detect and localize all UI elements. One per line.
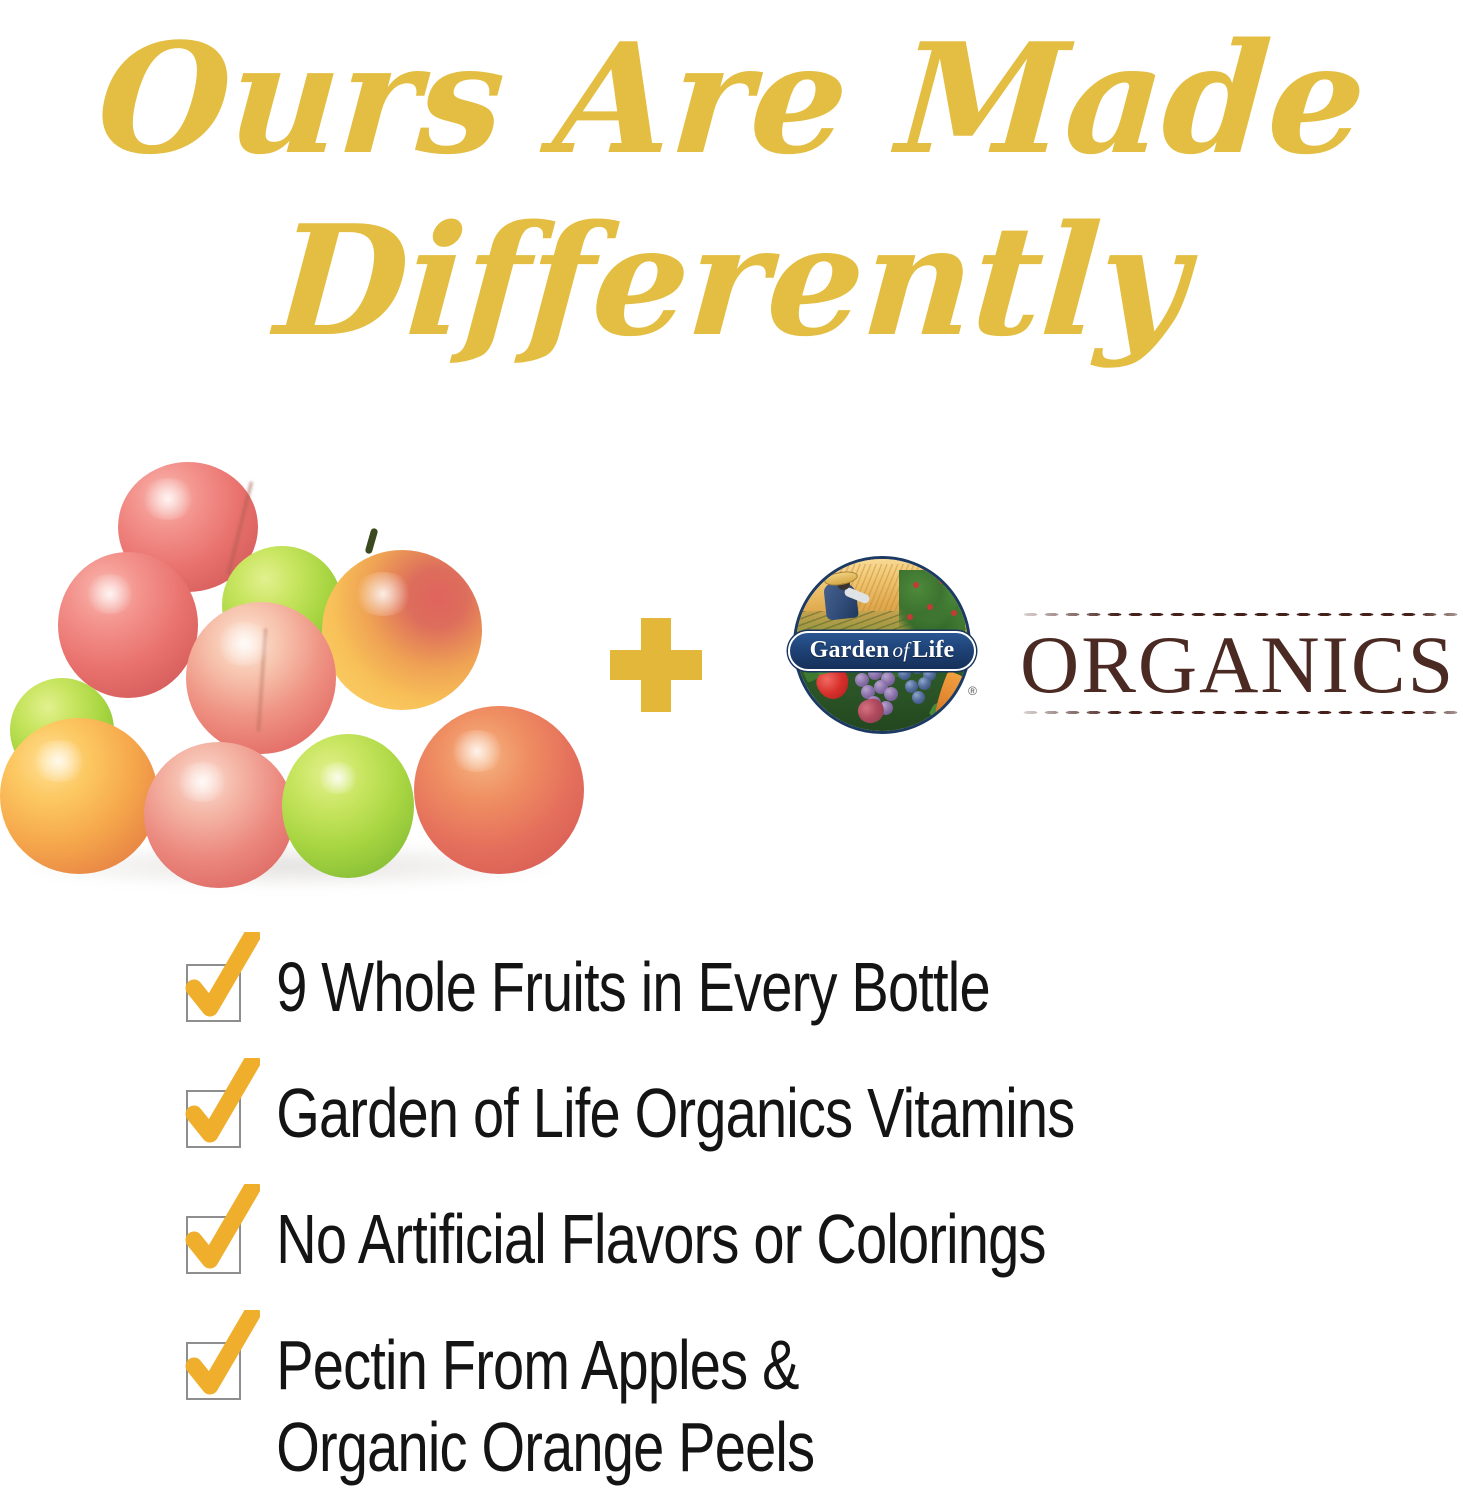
checklist-label-line-2: Organic Orange Peels bbox=[276, 1406, 1205, 1488]
apricot-front-left bbox=[0, 718, 158, 874]
peach-front-far-right bbox=[414, 706, 584, 874]
checklist-label-line-1: Pectin From Apples & bbox=[276, 1324, 1205, 1406]
brand-word-of: of bbox=[890, 638, 913, 662]
apple-front-right bbox=[282, 734, 414, 878]
checkbox-fruits[interactable] bbox=[186, 964, 241, 1022]
checklist-label: No Artificial Flavors or Colorings bbox=[241, 1198, 1205, 1280]
brand-word-life: Life bbox=[912, 637, 954, 663]
checkbox-no-artificial[interactable] bbox=[186, 1216, 241, 1274]
dotted-rule-bottom bbox=[1020, 710, 1463, 715]
strawberry-icon bbox=[813, 665, 852, 703]
emblem-brand-banner: GardenofLife bbox=[788, 631, 976, 671]
plus-bar-vertical bbox=[641, 618, 671, 712]
garden-of-life-emblem-icon: GardenofLife ® bbox=[793, 556, 971, 734]
checklist-label: Garden of Life Organics Vitamins bbox=[241, 1072, 1205, 1154]
peach-center bbox=[186, 602, 336, 754]
plus-icon bbox=[610, 618, 702, 712]
headline-line-1: Ours Are Made bbox=[0, 14, 1463, 184]
berry-bush-icon bbox=[899, 570, 965, 632]
peach-front-center bbox=[144, 742, 294, 888]
checkbox-vitamins[interactable] bbox=[186, 1090, 241, 1148]
organics-text: ORGANICS bbox=[1020, 624, 1463, 706]
checklist-item: 9 Whole Fruits in Every Bottle bbox=[186, 946, 1446, 1042]
checklist-label: 9 Whole Fruits in Every Bottle bbox=[241, 946, 1205, 1028]
checklist-item: Pectin From Apples & Organic Orange Peel… bbox=[186, 1324, 1446, 1500]
checklist-item: No Artificial Flavors or Colorings bbox=[186, 1198, 1446, 1294]
organics-wordmark: ORGANICS bbox=[1020, 600, 1463, 726]
feature-checklist: 9 Whole Fruits in Every Bottle Garden of… bbox=[186, 946, 1446, 1500]
brand-word-garden: Garden bbox=[810, 637, 890, 663]
checklist-label: Pectin From Apples & Organic Orange Peel… bbox=[241, 1324, 1205, 1488]
apple-stem bbox=[365, 528, 379, 555]
checkbox-pectin[interactable] bbox=[186, 1342, 241, 1400]
fruit-pile-image bbox=[0, 452, 600, 892]
peach-left-upper bbox=[58, 552, 198, 698]
headline-line-2: Differently bbox=[0, 196, 1463, 366]
dotted-rule-top bbox=[1020, 612, 1463, 617]
checklist-item: Garden of Life Organics Vitamins bbox=[186, 1072, 1446, 1168]
registered-trademark-icon: ® bbox=[968, 684, 977, 698]
product-infographic: Ours Are Made Differently bbox=[0, 0, 1463, 1500]
emblem-brand-text: GardenofLife bbox=[810, 637, 955, 664]
peach-right-top bbox=[322, 550, 482, 710]
